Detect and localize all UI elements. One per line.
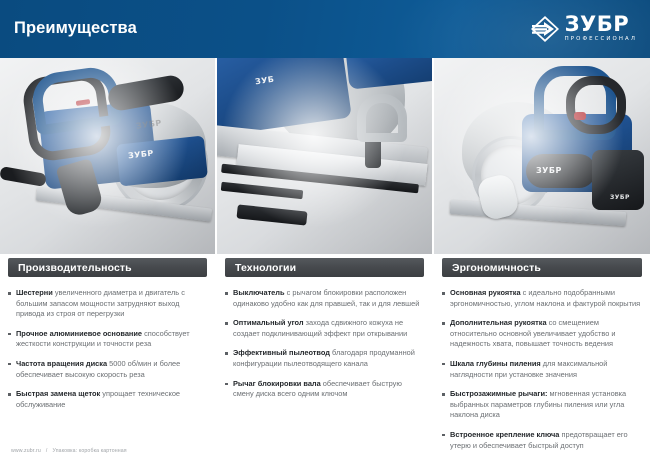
list-item: Прочное алюминиевое основание способству… — [8, 329, 207, 350]
feature-term: Прочное алюминиевое основание — [16, 329, 142, 338]
feature-list-technologies: Выключатель с рычагом блокировки располо… — [225, 288, 424, 400]
footer-packaging: Упаковка: коробка картонная — [53, 448, 127, 454]
feature-list-ergonomics: Основная рукоятка с идеально подобранным… — [442, 288, 642, 451]
photo-circular-saw-rail-guide-closeup: ЗУБ — [217, 58, 432, 254]
list-item: Эффективный пылеотвод благодаря продуман… — [225, 348, 424, 369]
feature-term: Шестерни — [16, 288, 53, 297]
feature-term: Оптимальный угол — [233, 318, 304, 327]
feature-term: Быстрозажимные рычаги: — [450, 389, 547, 398]
list-item: Основная рукоятка с идеально подобранным… — [442, 288, 642, 309]
brand-name: ЗУБР — [565, 14, 638, 35]
page-footer: www.zubr.ru / Упаковка: коробка картонна… — [0, 443, 650, 459]
list-item: Выключатель с рычагом блокировки располо… — [225, 288, 424, 309]
section-header-ergonomics: Эргономичность — [442, 258, 642, 277]
list-item: Быстрозажимные рычаги: мгновенная устано… — [442, 389, 642, 421]
list-item: Шкала глубины пиления для максимальной н… — [442, 359, 642, 380]
section-header-performance: Производительность — [8, 258, 207, 277]
feature-term: Частота вращения диска — [16, 359, 107, 368]
list-item: Оптимальный угол захода сдвижного кожуха… — [225, 318, 424, 339]
brand-subtitle: ПРОФЕССИОНАЛ — [565, 35, 638, 44]
feature-term: Эффективный пылеотвод — [233, 348, 330, 357]
list-item: Шестерни увеличенного диаметра и двигате… — [8, 288, 207, 320]
list-item: Быстрая замена щеток упрощает техническо… — [8, 389, 207, 410]
feature-term: Дополнительная рукоятка — [450, 318, 547, 327]
arrow-in-diamond-icon — [530, 15, 560, 43]
feature-list-performance: Шестерни увеличенного диаметра и двигате… — [8, 288, 207, 410]
footer-website[interactable]: www.zubr.ru — [11, 448, 41, 454]
feature-columns: Производительность Шестерни увеличенного… — [0, 258, 650, 459]
feature-term: Шкала глубины пиления — [450, 359, 541, 368]
list-item: Дополнительная рукоятка со смещением отн… — [442, 318, 642, 350]
column-technologies: Технологии Выключатель с рычагом блокиро… — [215, 258, 432, 459]
feature-term: Рычаг блокировки вала — [233, 379, 321, 388]
list-item: Рычаг блокировки вала обеспечивает быстр… — [225, 379, 424, 400]
column-ergonomics: Эргономичность Основная рукоятка с идеал… — [432, 258, 650, 459]
section-header-technologies: Технологии — [225, 258, 424, 277]
feature-term: Выключатель — [233, 288, 285, 297]
page-title: Преимущества — [14, 19, 137, 38]
photo-row: ЗУБР ЗУБР ЗУБ — [0, 58, 650, 254]
feature-term: Быстрая замена щеток — [16, 389, 100, 398]
photo-circular-saw-left-view: ЗУБР ЗУБР — [0, 58, 215, 254]
column-performance: Производительность Шестерни увеличенного… — [0, 258, 215, 459]
photo-circular-saw-right-view: ЗУБР ЗУБР — [434, 58, 650, 254]
list-item: Частота вращения диска 5000 об/мин и бол… — [8, 359, 207, 380]
page-header: Преимущества ЗУБР ПРОФЕССИОНАЛ — [0, 0, 650, 58]
feature-term: Основная рукоятка — [450, 288, 521, 297]
brand-logo: ЗУБР ПРОФЕССИОНАЛ — [530, 14, 638, 46]
feature-term: Встроенное крепление ключа — [450, 430, 559, 439]
advantages-page: Преимущества ЗУБР ПРОФЕССИОНАЛ — [0, 0, 650, 459]
footer-separator: / — [46, 448, 48, 454]
